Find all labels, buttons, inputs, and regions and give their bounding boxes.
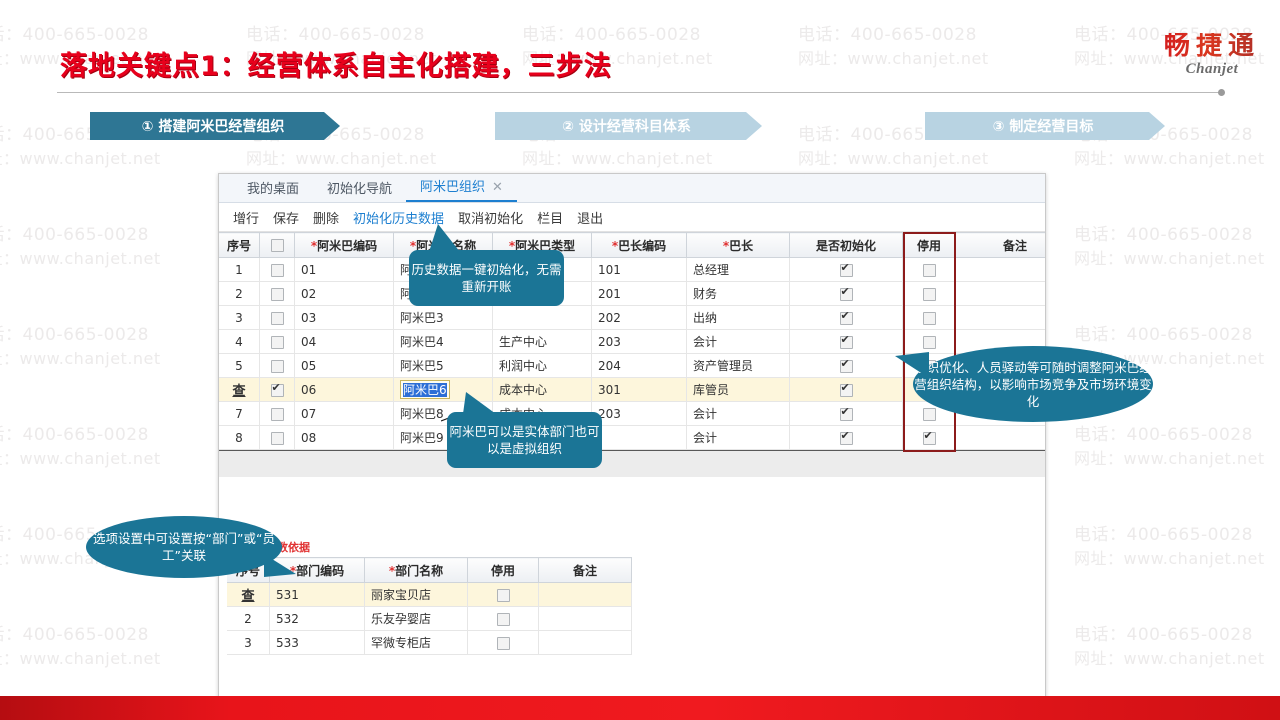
cell-chief: 资产管理员: [693, 359, 753, 373]
row-select-checkbox[interactable]: [271, 432, 284, 445]
row-index: 7: [235, 407, 243, 421]
application-window: 我的桌面初始化导航阿米巴组织✕ 增行保存删除初始化历史数据取消初始化栏目退出 序…: [218, 173, 1046, 703]
page-title: 落地关键点1：经营体系自主化搭建，三步法: [60, 44, 612, 83]
cell-chief-code: 301: [598, 383, 621, 397]
row-index: 查: [241, 589, 254, 604]
watermark-phone: 电话：400-665-0028: [0, 220, 149, 245]
amoeba-grid-container: 序号*阿米巴编码*阿米巴名称*阿米巴类型*巴长编码*巴长是否初始化停用备注 10…: [219, 232, 1045, 450]
dept-col-header-3[interactable]: 停用: [468, 558, 539, 583]
row-index: 5: [235, 359, 243, 373]
tab-0[interactable]: 我的桌面: [233, 178, 313, 202]
col-header-5[interactable]: *巴长编码: [592, 233, 687, 258]
cell-chief: 总经理: [693, 263, 729, 277]
col-header-6[interactable]: *巴长: [687, 233, 790, 258]
relation-source-label: 关联取数依据: [244, 539, 1045, 555]
disabled-checkbox[interactable]: [923, 336, 936, 349]
watermark-phone: 电话：400-665-0028: [1074, 320, 1253, 345]
row-select-checkbox[interactable]: [271, 288, 284, 301]
table-row[interactable]: 808阿米巴9会计: [219, 426, 1046, 450]
watermark-site: 网址：www.chanjet.net: [798, 145, 989, 169]
cell-chief-code: 201: [598, 287, 621, 301]
cell-type: 成本中心: [499, 383, 547, 397]
col-header-9[interactable]: 备注: [956, 233, 1047, 258]
close-icon[interactable]: ✕: [492, 180, 503, 195]
cell-code: 01: [301, 263, 316, 277]
toolbar-item-1[interactable]: 保存: [273, 208, 299, 227]
name-editor[interactable]: 阿米巴6: [400, 380, 450, 399]
col-header-label: 部门名称: [395, 564, 443, 578]
col-header-label: 巴长: [729, 239, 753, 253]
row-select-checkbox[interactable]: [271, 408, 284, 421]
department-grid-body: 查531丽家宝贝店2532乐友孕婴店3533罕微专柜店: [227, 583, 632, 655]
cell-dept-code: 532: [276, 612, 299, 626]
watermark-phone: 电话：400-665-0028: [1074, 520, 1253, 545]
disabled-checkbox[interactable]: [923, 312, 936, 325]
callout-option-setting: 选项设置中可设置按“部门”或“员工”关联: [86, 516, 282, 578]
cell-code: 07: [301, 407, 316, 421]
row-select-checkbox[interactable]: [271, 312, 284, 325]
cell-dept-code: 531: [276, 588, 299, 602]
col-header-7[interactable]: 是否初始化: [790, 233, 903, 258]
toolbar: 增行保存删除初始化历史数据取消初始化栏目退出: [219, 203, 1045, 232]
table-row[interactable]: 404阿米巴4生产中心203会计: [219, 330, 1046, 354]
table-row[interactable]: 303阿米巴3202出纳: [219, 306, 1046, 330]
watermark-site: 网址：www.chanjet.net: [0, 345, 161, 369]
table-row[interactable]: 101阿米巴1101总经理: [219, 258, 1046, 282]
disabled-checkbox[interactable]: [923, 432, 936, 445]
watermark-site: 网址：www.chanjet.net: [1074, 545, 1265, 569]
cell-code: 04: [301, 335, 316, 349]
selected-text: 阿米巴6: [403, 383, 447, 397]
callout-tail: [463, 392, 496, 414]
watermark-site: 网址：www.chanjet.net: [246, 145, 437, 169]
initialized-checkbox[interactable]: [840, 264, 853, 277]
cell-dept-name: 罕微专柜店: [371, 636, 431, 650]
cell-dept-code: 533: [276, 636, 299, 650]
col-header-2[interactable]: *阿米巴编码: [295, 233, 394, 258]
col-header-label: 备注: [573, 564, 597, 578]
watermark-site: 网址：www.chanjet.net: [798, 45, 989, 69]
toolbar-item-4[interactable]: 取消初始化: [458, 208, 523, 227]
row-index: 2: [244, 612, 252, 626]
watermark-phone: 电话：400-665-0028: [1074, 620, 1253, 645]
row-index: 2: [235, 287, 243, 301]
row-select-checkbox[interactable]: [271, 360, 284, 373]
callout-tail: [264, 554, 296, 577]
watermark-phone: 电话：400-665-0028: [522, 20, 701, 45]
col-header-label: 部门编码: [296, 564, 344, 578]
cell-code: 08: [301, 431, 316, 445]
col-header-label: 是否初始化: [816, 239, 876, 253]
amoeba-grid-header-row: 序号*阿米巴编码*阿米巴名称*阿米巴类型*巴长编码*巴长是否初始化停用备注: [219, 233, 1046, 258]
bottom-accent-bar: [0, 696, 1280, 720]
cell-name: 阿米巴3: [400, 311, 444, 325]
col-header-0[interactable]: 序号: [219, 233, 260, 258]
dept-col-header-4[interactable]: 备注: [539, 558, 632, 583]
step-chevron-1[interactable]: ① 搭建阿米巴经营组织: [90, 112, 340, 140]
watermark-site: 网址：www.chanjet.net: [0, 245, 161, 269]
toolbar-item-5[interactable]: 栏目: [537, 208, 563, 227]
disabled-checkbox[interactable]: [497, 637, 510, 650]
select-all-checkbox[interactable]: [271, 239, 284, 252]
initialized-checkbox[interactable]: [840, 360, 853, 373]
disabled-checkbox[interactable]: [497, 589, 510, 602]
tab-bar: 我的桌面初始化导航阿米巴组织✕: [219, 174, 1045, 203]
step-chevron-2[interactable]: ② 设计经营科目体系: [495, 112, 762, 140]
initialized-checkbox[interactable]: [840, 408, 853, 421]
initialized-checkbox[interactable]: [840, 384, 853, 397]
logo-chinese-text: 畅捷通: [1164, 33, 1260, 59]
tab-label: 我的桌面: [247, 182, 299, 197]
cell-chief-code: 204: [598, 359, 621, 373]
toolbar-item-0[interactable]: 增行: [233, 208, 259, 227]
table-row[interactable]: 2532乐友孕婴店: [227, 607, 632, 631]
cell-name: 阿米巴9: [400, 431, 444, 445]
cell-chief: 会计: [693, 431, 717, 445]
callout-text: 阿米巴可以是实体部门也可以是虚拟组织: [447, 423, 602, 457]
cell-name: 阿米巴5: [400, 359, 444, 373]
row-select-checkbox[interactable]: [271, 384, 284, 397]
disabled-checkbox[interactable]: [923, 264, 936, 277]
watermark-site: 网址：www.chanjet.net: [0, 145, 161, 169]
watermark-phone: 电话：400-665-0028: [1074, 220, 1253, 245]
watermark-site: 网址：www.chanjet.net: [1074, 245, 1265, 269]
watermark-site: 网址：www.chanjet.net: [1074, 145, 1265, 169]
watermark-site: 网址：www.chanjet.net: [1074, 645, 1265, 669]
dept-col-header-2[interactable]: *部门名称: [365, 558, 468, 583]
table-row[interactable]: 202阿米巴2201财务: [219, 282, 1046, 306]
col-header-1[interactable]: [260, 233, 295, 258]
callout-text: 历史数据一键初始化，无需重新开账: [409, 261, 564, 295]
watermark-phone: 电话：400-665-0028: [798, 20, 977, 45]
cell-code: 02: [301, 287, 316, 301]
cell-name: 阿米巴4: [400, 335, 444, 349]
watermark-site: 网址：www.chanjet.net: [522, 145, 713, 169]
toolbar-item-6[interactable]: 退出: [577, 208, 603, 227]
initialized-checkbox[interactable]: [840, 432, 853, 445]
row-index: 1: [235, 263, 243, 277]
tab-1[interactable]: 初始化导航: [313, 178, 406, 202]
cell-chief: 会计: [693, 407, 717, 421]
chanjet-logo: 畅捷通 Chanjet: [1164, 33, 1260, 78]
watermark-site: 网址：www.chanjet.net: [0, 445, 161, 469]
row-select-checkbox[interactable]: [271, 336, 284, 349]
logo-english-text: Chanjet: [1164, 61, 1260, 78]
watermark-phone: 电话：400-665-0028: [0, 620, 149, 645]
disabled-checkbox[interactable]: [923, 288, 936, 301]
tab-label: 初始化导航: [327, 182, 392, 197]
initialized-checkbox[interactable]: [840, 336, 853, 349]
cell-chief: 出纳: [693, 311, 717, 325]
tab-label: 阿米巴组织: [420, 180, 485, 195]
toolbar-item-2[interactable]: 删除: [313, 208, 339, 227]
col-header-label: 阿米巴编码: [317, 239, 377, 253]
table-row[interactable]: 查531丽家宝贝店: [227, 583, 632, 607]
callout-tail: [429, 224, 460, 252]
amoeba-grid: 序号*阿米巴编码*阿米巴名称*阿米巴类型*巴长编码*巴长是否初始化停用备注 10…: [219, 232, 1046, 450]
watermark-phone: 电话：400-665-0028: [0, 420, 149, 445]
tab-2[interactable]: 阿米巴组织✕: [406, 176, 517, 202]
callout-tail: [895, 352, 929, 378]
col-header-label: 备注: [1003, 239, 1027, 253]
cell-chief: 会计: [693, 335, 717, 349]
col-header-label: 序号: [227, 239, 251, 253]
callout-amoeba-entity: 阿米巴可以是实体部门也可以是虚拟组织: [447, 412, 602, 468]
step-chevron-3[interactable]: ③ 制定经营目标: [925, 112, 1165, 140]
grid-splitter[interactable]: [219, 450, 1045, 477]
watermark-site: 网址：www.chanjet.net: [1074, 445, 1265, 469]
title-divider: [57, 92, 1222, 93]
cell-type: 利润中心: [499, 359, 547, 373]
watermark-phone: 电话：400-665-0028: [246, 20, 425, 45]
callout-org-optimization: 组织优化、人员驿动等可随时调整阿米巴经营组织结构，以影响市场竞争及市场环境变化: [913, 346, 1153, 422]
watermark-phone: 电话：400-665-0028: [1074, 420, 1253, 445]
cell-chief: 库管员: [693, 383, 729, 397]
row-select-checkbox[interactable]: [271, 264, 284, 277]
row-index: 3: [235, 311, 243, 325]
col-header-label: 停用: [491, 564, 515, 578]
callout-text: 组织优化、人员驿动等可随时调整阿米巴经营组织结构，以影响市场竞争及市场环境变化: [913, 359, 1153, 410]
initialized-checkbox[interactable]: [840, 312, 853, 325]
cell-code: 03: [301, 311, 316, 325]
row-index: 8: [235, 431, 243, 445]
row-index: 4: [235, 335, 243, 349]
cell-dept-name: 乐友孕婴店: [371, 612, 431, 626]
cell-dept-name: 丽家宝贝店: [371, 588, 431, 602]
watermark-site: 网址：www.chanjet.net: [0, 645, 161, 669]
cell-code: 05: [301, 359, 316, 373]
cell-name: 阿米巴8: [400, 407, 444, 421]
table-row[interactable]: 3533罕微专柜店: [227, 631, 632, 655]
cell-chief: 财务: [693, 287, 717, 301]
col-header-8[interactable]: 停用: [903, 233, 956, 258]
title-divider-dot: [1218, 89, 1225, 96]
cell-code: 06: [301, 383, 316, 397]
callout-history-init: 历史数据一键初始化，无需重新开账: [409, 250, 564, 306]
middle-blank-area: [219, 477, 1045, 539]
cell-chief-code: 101: [598, 263, 621, 277]
initialized-checkbox[interactable]: [840, 288, 853, 301]
row-index: 3: [244, 636, 252, 650]
watermark-phone: 电话：400-665-0028: [0, 20, 149, 45]
cell-type: 生产中心: [499, 335, 547, 349]
watermark-phone: 电话：400-665-0028: [0, 320, 149, 345]
cell-chief-code: 202: [598, 311, 621, 325]
row-index: 查: [232, 384, 245, 399]
cell-chief-code: 203: [598, 335, 621, 349]
disabled-checkbox[interactable]: [497, 613, 510, 626]
col-header-label: 停用: [917, 239, 941, 253]
col-header-label: 巴长编码: [618, 239, 666, 253]
callout-text: 选项设置中可设置按“部门”或“员工”关联: [86, 530, 282, 564]
